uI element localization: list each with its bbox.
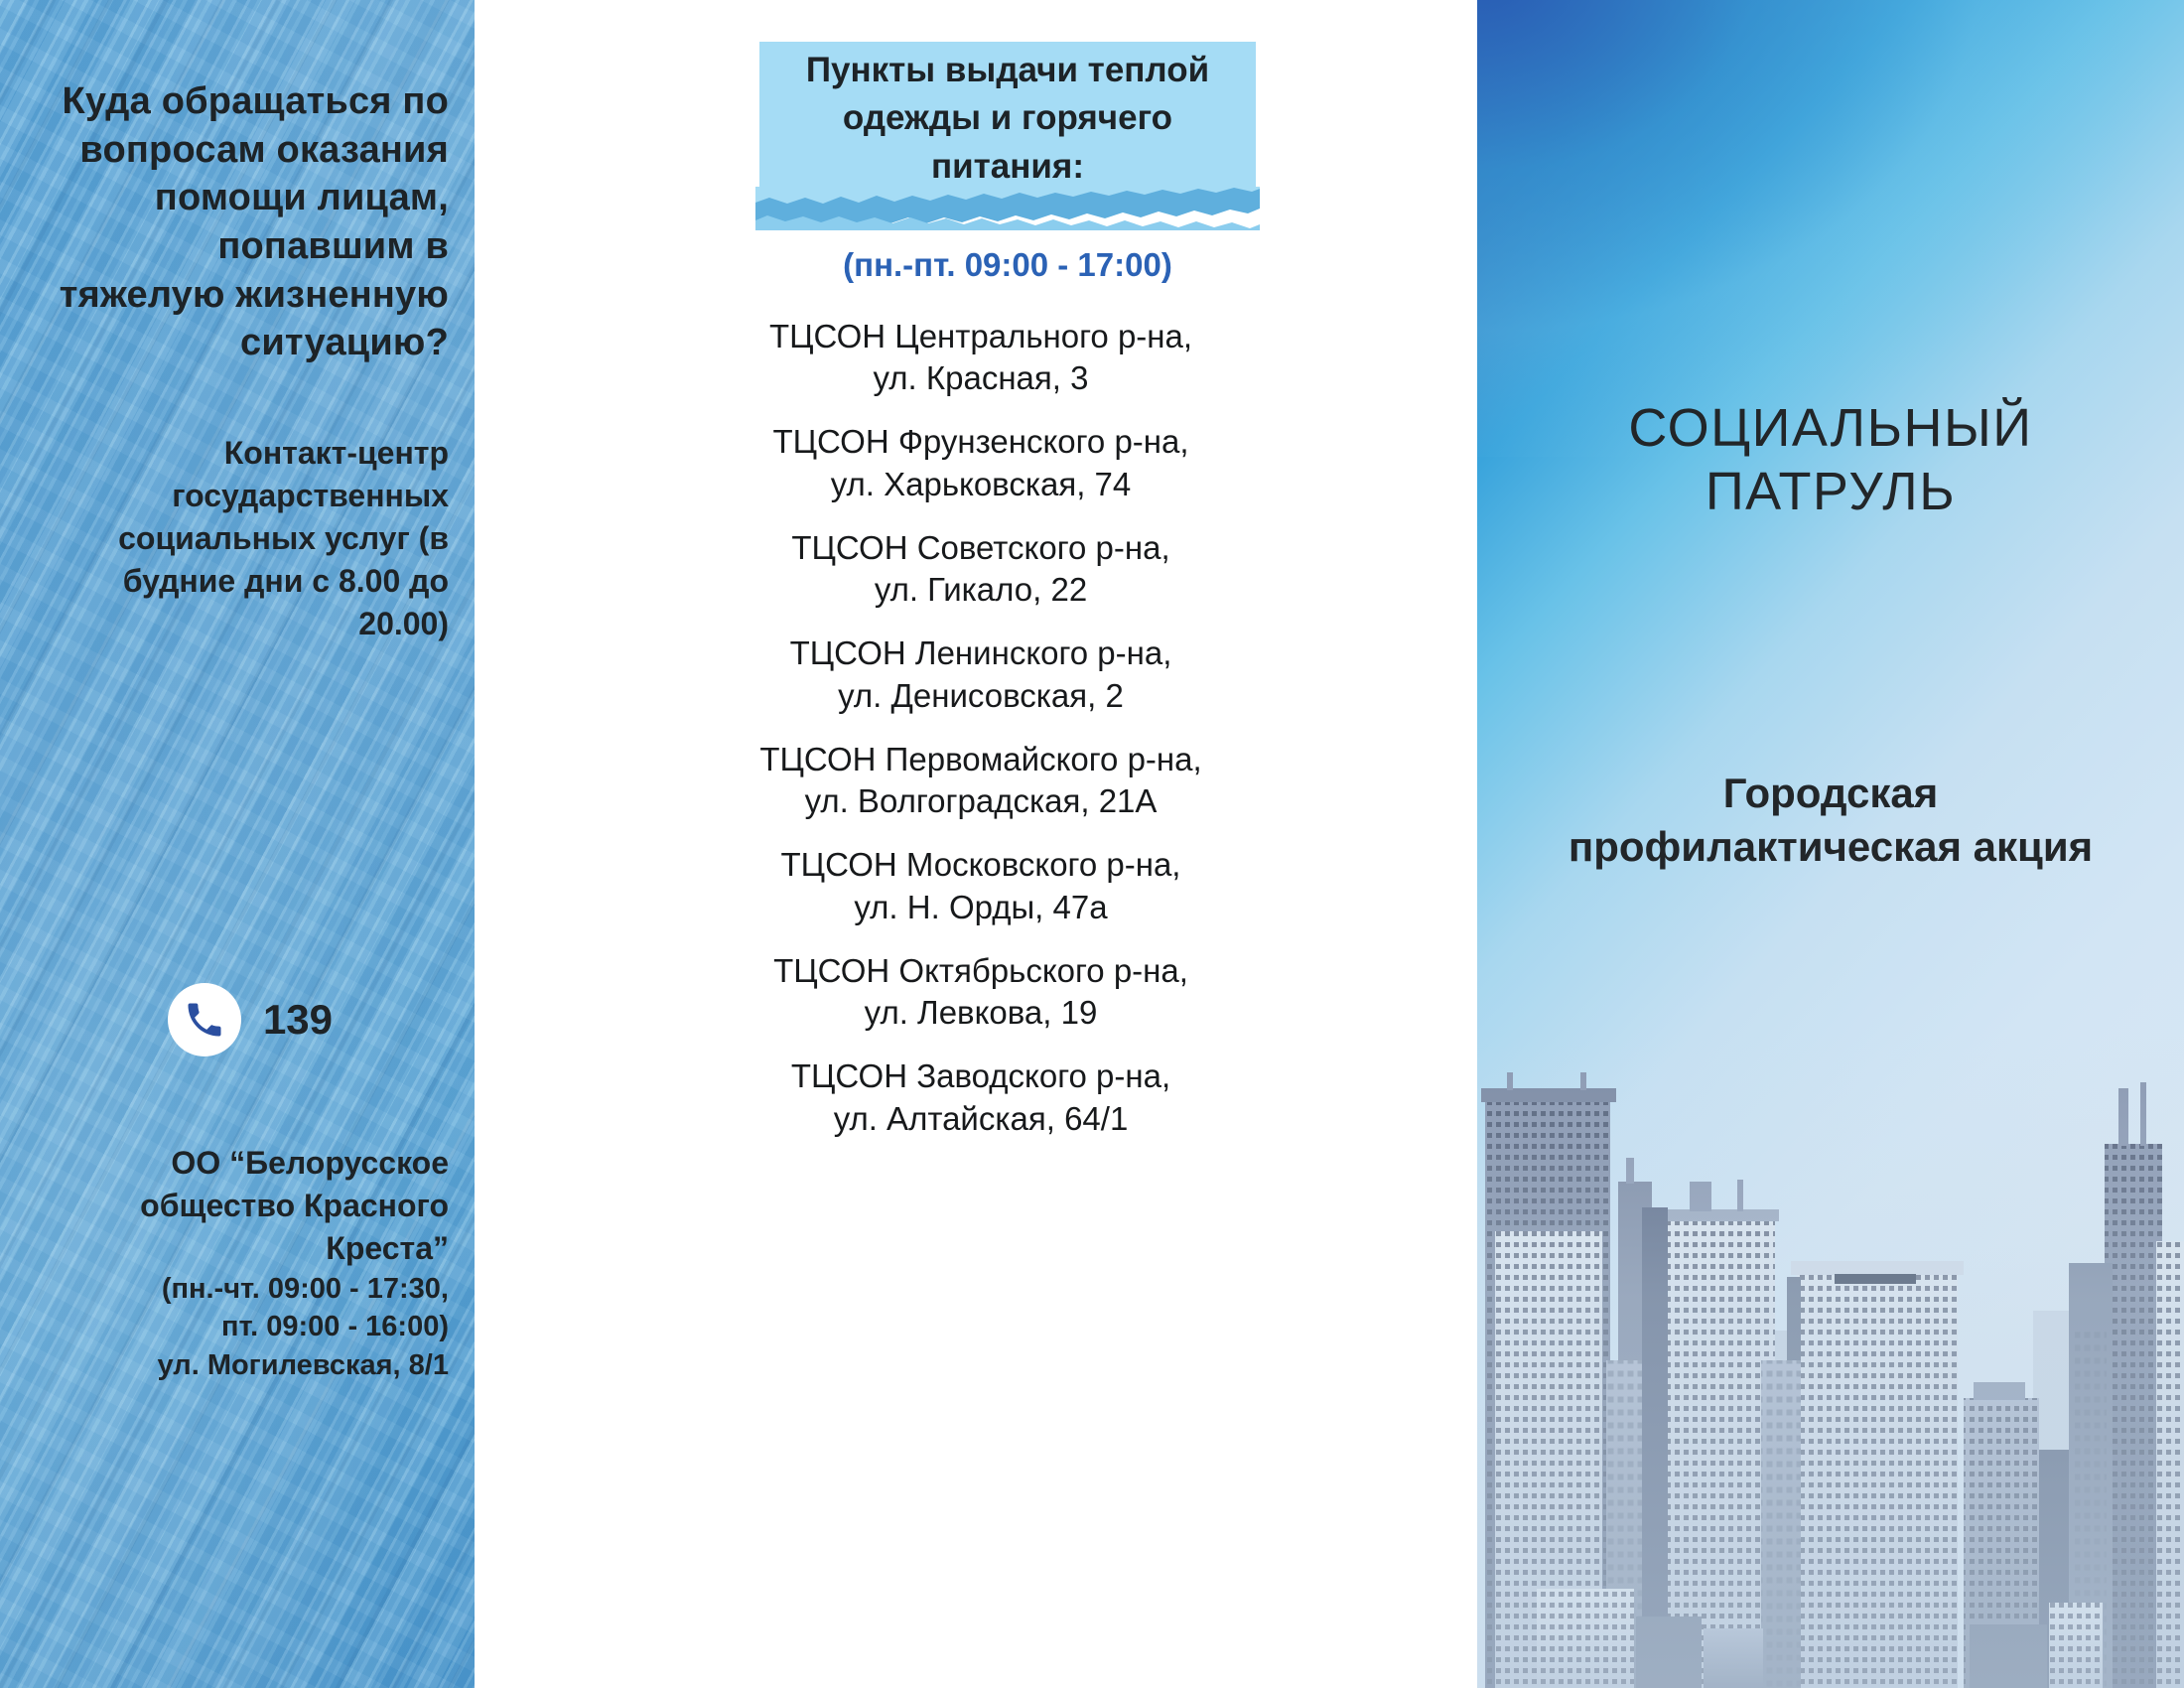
list-item: ТЦСОН Заводского р-на, ул. Алтайская, 64… — [554, 1055, 1408, 1139]
distribution-points-list: ТЦСОН Центрального р-на, ул. Красная, 3 … — [554, 316, 1408, 1162]
point-address: ул. Харьковская, 74 — [554, 464, 1408, 505]
left-panel-content: Куда обращаться по вопросам оказания пом… — [0, 0, 475, 1688]
point-address: ул. Красная, 3 — [554, 357, 1408, 399]
list-item: ТЦСОН Октябрьского р-на, ул. Левкова, 19 — [554, 950, 1408, 1034]
point-name: ТЦСОН Ленинского р-на, — [554, 633, 1408, 674]
phone-row: 139 — [52, 983, 449, 1056]
center-hours-text: (пн.-пт. 09:00 - 17:00) — [759, 246, 1256, 284]
phone-icon — [168, 983, 241, 1056]
point-address: ул. Н. Орды, 47а — [554, 887, 1408, 928]
title-line-2: ПАТРУЛЬ — [1477, 461, 2184, 524]
point-name: ТЦСОН Заводского р-на, — [554, 1055, 1408, 1097]
point-name: ТЦСОН Московского р-на, — [554, 844, 1408, 886]
point-address: ул. Денисовская, 2 — [554, 675, 1408, 717]
corner-gradient-glow — [1477, 0, 2152, 457]
contact-center-text: Контакт-центр государственных социальных… — [52, 432, 449, 644]
list-item: ТЦСОН Фрунзенского р-на, ул. Харьковская… — [554, 421, 1408, 504]
red-cross-name: ОО “Белорусское общество Красного Креста… — [52, 1142, 449, 1270]
point-address: ул. Волгоградская, 21А — [554, 780, 1408, 822]
center-header-text: Пункты выдачи теплой одежды и горячего п… — [781, 47, 1234, 191]
page-subtitle: Городская профилактическая акция — [1477, 767, 2184, 874]
right-panel: СОЦИАЛЬНЫЙ ПАТРУЛЬ Городская профилактич… — [1477, 0, 2184, 1688]
point-address: ул. Гикало, 22 — [554, 569, 1408, 611]
subtitle-line-2: профилактическая акция — [1477, 820, 2184, 874]
point-name: ТЦСОН Центрального р-на, — [554, 316, 1408, 357]
point-address: ул. Алтайская, 64/1 — [554, 1098, 1408, 1140]
point-name: ТЦСОН Фрунзенского р-на, — [554, 421, 1408, 463]
page-title: СОЦИАЛЬНЫЙ ПАТРУЛЬ — [1477, 397, 2184, 523]
brochure-page: Куда обращаться по вопросам оказания пом… — [0, 0, 2184, 1688]
list-item: ТЦСОН Московского р-на, ул. Н. Орды, 47а — [554, 844, 1408, 927]
red-cross-hours-2: пт. 09:00 - 16:00) — [52, 1308, 449, 1346]
point-name: ТЦСОН Октябрьского р-на, — [554, 950, 1408, 992]
red-cross-block: ОО “Белорусское общество Красного Креста… — [52, 1142, 449, 1385]
list-item: ТЦСОН Советского р-на, ул. Гикало, 22 — [554, 527, 1408, 611]
center-panel: Пункты выдачи теплой одежды и горячего п… — [475, 0, 1477, 1688]
left-panel-heading: Куда обращаться по вопросам оказания пом… — [52, 77, 449, 367]
phone-number: 139 — [263, 996, 333, 1044]
title-line-1: СОЦИАЛЬНЫЙ — [1477, 397, 2184, 461]
list-item: ТЦСОН Ленинского р-на, ул. Денисовская, … — [554, 633, 1408, 716]
point-name: ТЦСОН Первомайского р-на, — [554, 739, 1408, 780]
subtitle-line-1: Городская — [1477, 767, 2184, 820]
point-name: ТЦСОН Советского р-на, — [554, 527, 1408, 569]
list-item: ТЦСОН Центрального р-на, ул. Красная, 3 — [554, 316, 1408, 399]
torn-paper-edge-icon — [755, 187, 1260, 244]
red-cross-address: ул. Могилевская, 8/1 — [52, 1346, 449, 1385]
left-panel: Куда обращаться по вопросам оказания пом… — [0, 0, 475, 1688]
center-header-box: Пункты выдачи теплой одежды и горячего п… — [759, 42, 1256, 196]
list-item: ТЦСОН Первомайского р-на, ул. Волгоградс… — [554, 739, 1408, 822]
point-address: ул. Левкова, 19 — [554, 992, 1408, 1034]
red-cross-hours-1: (пн.-чт. 09:00 - 17:30, — [52, 1270, 449, 1309]
city-skyline-photo — [1477, 1033, 2184, 1688]
